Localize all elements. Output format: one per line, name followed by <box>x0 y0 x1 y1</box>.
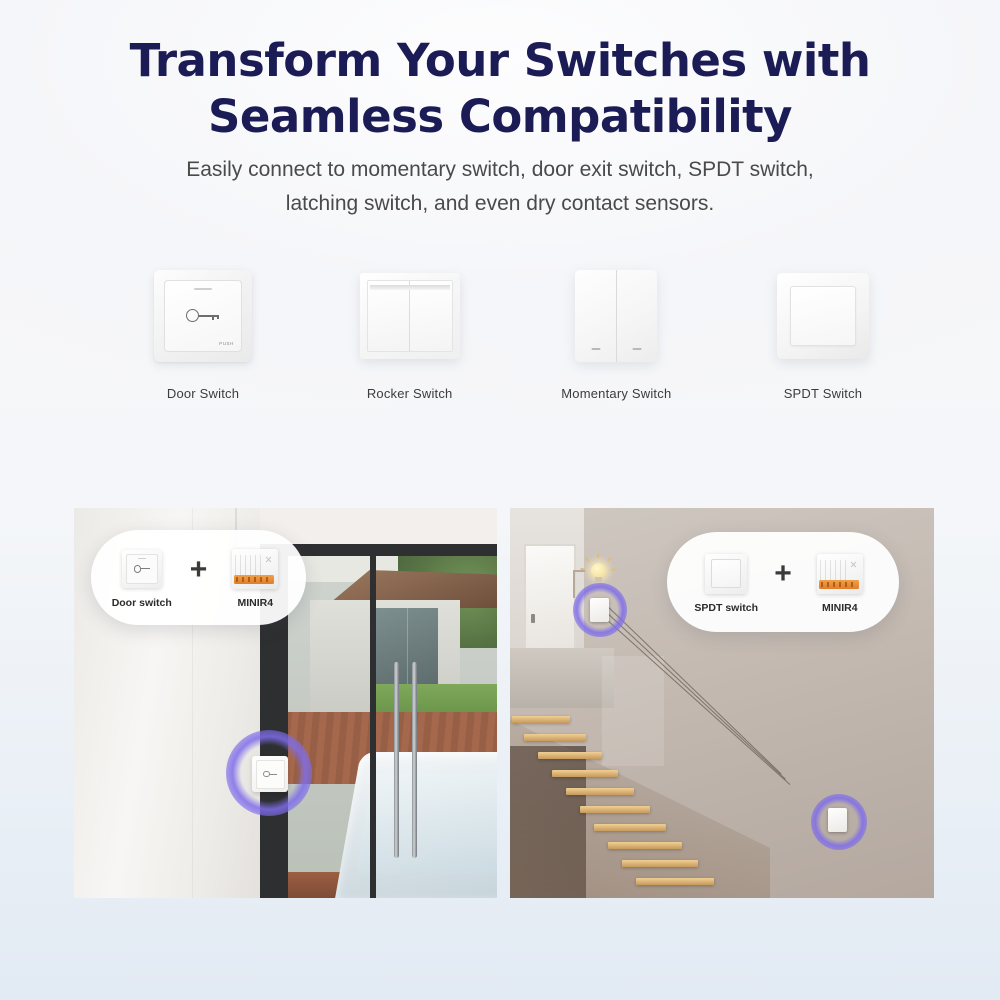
gallery-label: Door Switch <box>167 386 239 401</box>
spdt-switch-plate-icon <box>705 551 747 597</box>
badge-item-minir4: MINIR4 <box>218 546 292 609</box>
plus-icon: + <box>774 559 792 589</box>
page-title: Transform Your Switches with Seamless Co… <box>0 33 1000 145</box>
key-icon <box>186 309 220 323</box>
push-marking: PUSH <box>219 341 234 346</box>
gallery-label: SPDT Switch <box>784 386 863 401</box>
badge-item-spdt-switch: SPDT switch <box>689 551 763 614</box>
scene-photo-right: SPDT switch + MINIR4 <box>510 508 934 898</box>
gallery-item-momentary-switch: Momentary Switch <box>531 262 701 401</box>
gallery-label: Momentary Switch <box>561 386 671 401</box>
badge-item-label: SPDT switch <box>694 602 758 614</box>
installed-spdt-switch-top <box>590 598 609 622</box>
badge-item-door-switch: Door switch <box>105 546 179 609</box>
key-icon <box>134 565 150 573</box>
gallery-label: Rocker Switch <box>367 386 453 401</box>
minir4-module-icon <box>817 551 863 597</box>
stair-treads <box>510 704 760 898</box>
page-subtitle-line-2: latching switch, and even dry contact se… <box>0 187 1000 221</box>
promo-page: Transform Your Switches with Seamless Co… <box>0 0 1000 1000</box>
gallery-item-door-switch: PUSH Door Switch <box>118 262 288 401</box>
door-switch-plate-icon <box>122 546 162 592</box>
plus-icon: + <box>190 555 208 585</box>
badge-item-minir4: MINIR4 <box>803 551 877 614</box>
installed-door-switch <box>252 756 288 792</box>
callout-badge-right: SPDT switch + MINIR4 <box>667 532 899 632</box>
installed-spdt-switch-bottom <box>828 808 847 832</box>
switch-gallery: PUSH Door Switch Rocker Switch Momen <box>118 262 908 407</box>
rocker-switch-plate-icon <box>360 262 460 370</box>
badge-item-label: Door switch <box>112 597 172 609</box>
minir4-module-icon <box>232 546 278 592</box>
key-icon <box>263 771 277 778</box>
gallery-item-spdt-switch: SPDT Switch <box>738 262 908 401</box>
callout-badge-left: Door switch + MINIR4 <box>91 530 306 625</box>
page-title-line-2: Seamless Compatibility <box>0 89 1000 145</box>
scene-photos: Door switch + MINIR4 <box>74 508 934 898</box>
door-switch-plate-icon: PUSH <box>154 262 252 370</box>
page-subtitle: Easily connect to momentary switch, door… <box>0 153 1000 221</box>
gallery-item-rocker-switch: Rocker Switch <box>325 262 495 401</box>
page-subtitle-line-1: Easily connect to momentary switch, door… <box>186 158 814 181</box>
scene-photo-left: Door switch + MINIR4 <box>74 508 497 898</box>
momentary-switch-plate-icon <box>575 262 657 370</box>
badge-item-label: MINIR4 <box>237 597 273 609</box>
spdt-switch-plate-icon <box>777 262 869 370</box>
page-title-line-1: Transform Your Switches with <box>130 34 871 87</box>
badge-item-label: MINIR4 <box>822 602 858 614</box>
